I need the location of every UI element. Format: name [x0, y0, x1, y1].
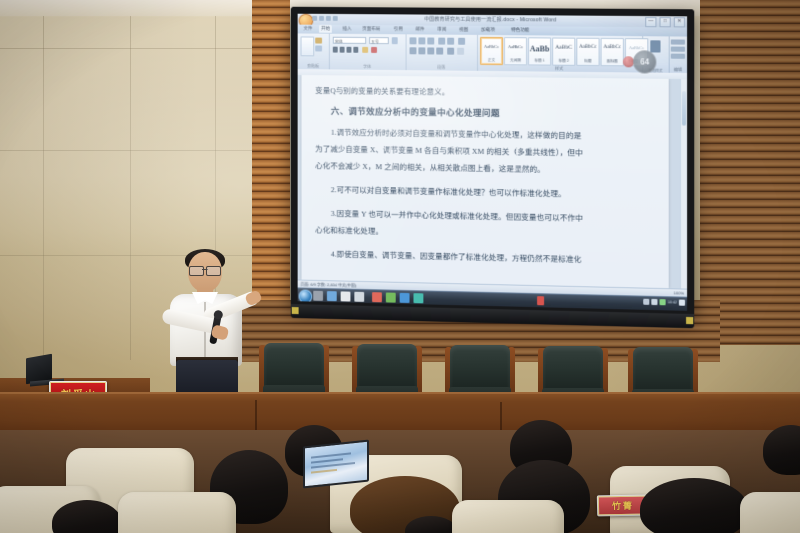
save-icon[interactable] — [312, 16, 317, 21]
seat-back — [118, 492, 236, 533]
lecture-hall-photo: 中国教育研究与工具使用一流汇报.docx - Microsoft Word — … — [0, 0, 800, 533]
show-desktop-icon[interactable] — [679, 300, 685, 306]
wood-slat-panel-right — [700, 0, 800, 345]
style-heading-1[interactable]: AaBb 标题 1 — [528, 37, 551, 65]
font-name-box[interactable]: 宋体 — [333, 37, 366, 44]
tab-features[interactable]: 特色功能 — [509, 26, 531, 34]
underline-icon[interactable] — [347, 47, 352, 53]
tab-reference[interactable]: 引用 — [392, 25, 405, 33]
taskbar-icon-media[interactable] — [354, 292, 364, 302]
align-left-icon[interactable] — [410, 47, 417, 54]
document-page[interactable]: 变量Q与别的变量的关系要有理论意义。 六、调节效应分析中的变量中心化处理问题 1… — [302, 75, 669, 288]
screen-mount-clip — [686, 317, 693, 324]
minimize-button[interactable]: — — [645, 17, 656, 27]
tab-insert[interactable]: 插入 — [341, 25, 354, 33]
change-styles-icon[interactable] — [650, 40, 660, 52]
taskbar-icon-word-active[interactable] — [537, 296, 544, 305]
line-spacing-icon[interactable] — [447, 48, 454, 55]
doc-line-1: 变量Q与别的变量的关系要有理论意义。 — [315, 85, 658, 100]
shading-icon[interactable] — [457, 48, 464, 55]
doc-heading: 六、调节效应分析中的变量中心化处理问题 — [315, 105, 658, 121]
style-heading-2[interactable]: AaBbC 标题 2 — [552, 38, 575, 66]
paste-button[interactable] — [301, 36, 315, 56]
document-canvas[interactable]: 变量Q与别的变量的关系要有理论意义。 六、调节效应分析中的变量中心化处理问题 1… — [298, 75, 687, 289]
taskbar-icon-app-blue[interactable] — [400, 293, 410, 303]
system-tray[interactable]: 10:42 — [643, 299, 685, 306]
style-preview: AaBbCc — [505, 44, 526, 49]
taskbar-clock[interactable]: 10:42 — [668, 299, 677, 305]
tab-mailings[interactable]: 邮件 — [413, 25, 426, 33]
style-label: 标题 2 — [553, 59, 574, 64]
sort-icon[interactable] — [458, 38, 465, 45]
style-no-spacing[interactable]: AaBbCc 无间隔 — [504, 37, 527, 65]
laptop-screen — [303, 440, 369, 489]
chair-back — [264, 343, 324, 389]
bold-icon[interactable] — [333, 47, 338, 53]
close-button[interactable]: ✕ — [674, 17, 685, 27]
nameplate-char: 竹 — [612, 499, 621, 512]
bullets-icon[interactable] — [410, 37, 417, 44]
align-right-icon[interactable] — [427, 47, 434, 54]
italic-icon[interactable] — [340, 47, 345, 53]
select-icon[interactable] — [671, 54, 685, 59]
taskbar-icon-explorer[interactable] — [313, 291, 323, 301]
chair-back — [357, 344, 417, 390]
align-center-icon[interactable] — [418, 47, 425, 54]
doc-line-9: 4.即使自变量、调节变量、因变量都作了标准化处理，方程仍然不是标准化 — [315, 248, 658, 266]
doc-line-8: 心化和标准化处理。 — [315, 225, 658, 243]
ribbon-group-editing: 编辑 — [669, 36, 687, 73]
seat-back — [740, 492, 800, 533]
tab-home[interactable]: 开始 — [319, 25, 332, 33]
style-label: 无间隔 — [505, 58, 526, 63]
quick-access-toolbar[interactable] — [312, 16, 337, 21]
tab-review[interactable]: 审阅 — [435, 26, 448, 34]
taskbar-icon-app-green[interactable] — [386, 292, 396, 302]
tab-addins[interactable]: 加载项 — [479, 26, 497, 34]
ribbon[interactable]: 剪贴板 宋体 五号 字体 — [298, 33, 687, 74]
doc-line-7: 3.因变量 Y 也可以一并作中心化处理或标准化处理。但因变量也可以不作中 — [315, 208, 658, 226]
vertical-scrollbar[interactable] — [680, 79, 687, 289]
style-label: 标题 1 — [529, 58, 550, 63]
zoom-level: 100% — [674, 290, 684, 295]
replace-icon[interactable] — [671, 47, 685, 52]
style-title[interactable]: AaBbCc 标题 — [576, 38, 599, 66]
taskbar-icon-folder[interactable] — [341, 291, 351, 301]
ime-badge: 64 — [633, 50, 656, 73]
maximize-button[interactable]: □ — [660, 17, 671, 27]
window-title: 中国教育研究与工具使用一流汇报.docx - Microsoft Word — [424, 16, 556, 24]
nameplate-char: 菁 — [623, 499, 632, 512]
nameplate-face: 竹 菁 — [598, 496, 646, 516]
find-icon[interactable] — [671, 39, 685, 44]
style-preview: AaBbCc — [602, 45, 623, 50]
chair-back — [543, 346, 603, 392]
style-label: 标题 — [577, 59, 598, 64]
strikethrough-icon[interactable] — [353, 47, 358, 53]
ribbon-group-styles: AaBbCc 正文 AaBbCc 无间隔 AaBb 标题 1 AaBbC — [477, 35, 643, 73]
copy-icon[interactable] — [315, 45, 322, 51]
screen-content: 中国教育研究与工具使用一流汇报.docx - Microsoft Word — … — [298, 14, 687, 311]
justify-icon[interactable] — [436, 48, 443, 55]
tray-up-arrow-icon[interactable] — [643, 299, 649, 305]
doc-line-6: 2.可不可以对自变量和调节变量作标准化处理？也可以作标准化处理。 — [315, 184, 658, 201]
doc-line-3: 1.调节效应分析时必须对自变量和调节变量作中心化处理，这样做的目的是 — [315, 127, 658, 143]
cut-icon[interactable] — [315, 38, 322, 44]
numbering-icon[interactable] — [418, 37, 425, 44]
redo-icon[interactable] — [326, 16, 331, 21]
font-size-box[interactable]: 五号 — [369, 37, 389, 44]
doc-line-4: 为了减少自变量 X、调节变量 M 各自与乘积项 XM 的相关（多重共线性），但中 — [315, 143, 658, 159]
style-preview: AaBbC — [553, 45, 574, 51]
projection-screen: 中国教育研究与工具使用一流汇报.docx - Microsoft Word — … — [291, 7, 694, 318]
scrollbar-thumb[interactable] — [682, 91, 686, 125]
ribbon-group-font: 宋体 五号 字体 — [329, 34, 407, 70]
style-preview: AaBbCc — [577, 45, 598, 50]
grow-font-icon[interactable] — [392, 37, 398, 44]
taskbar-icon-ie[interactable] — [327, 291, 337, 301]
tray-volume-icon[interactable] — [660, 299, 666, 305]
seat-back — [452, 500, 564, 533]
presenter — [150, 252, 268, 400]
undo-icon[interactable] — [319, 16, 324, 21]
tray-network-icon[interactable] — [651, 299, 657, 305]
tab-file[interactable]: 文件 — [302, 25, 315, 33]
increase-indent-icon[interactable] — [447, 38, 454, 45]
decrease-indent-icon[interactable] — [438, 38, 445, 45]
taskbar-icon-app-red[interactable] — [372, 292, 382, 302]
glasses-icon — [189, 266, 221, 274]
audience-laptop — [303, 443, 369, 485]
screen-mount-clip — [292, 307, 299, 314]
chair-back — [450, 345, 510, 391]
ribbon-group-paragraph: 段落 — [406, 34, 478, 71]
tab-layout[interactable]: 页面布局 — [360, 25, 382, 33]
style-label: 正文 — [481, 58, 502, 63]
style-normal[interactable]: AaBbCc 正文 — [480, 37, 503, 65]
style-subtitle[interactable]: AaBbCc 副标题 — [601, 38, 624, 66]
style-preview: AaBbCc — [481, 44, 502, 49]
audience-head — [640, 478, 748, 533]
highlight-icon[interactable] — [362, 47, 368, 53]
style-label: 副标题 — [602, 59, 623, 64]
window-controls[interactable]: — □ ✕ — [645, 17, 685, 27]
ribbon-group-clipboard: 剪贴板 — [298, 33, 330, 69]
style-preview: AaBb — [529, 44, 550, 53]
chevron-down-icon[interactable] — [333, 16, 338, 21]
multilevel-list-icon[interactable] — [427, 37, 434, 44]
chair-back — [633, 347, 693, 393]
taskbar-icon-app-teal[interactable] — [413, 293, 423, 303]
tab-view[interactable]: 视图 — [457, 26, 470, 34]
doc-line-5: 心化不会减少 X，M 之间的相关，从相关散点图上看，这是显然的。 — [315, 160, 658, 177]
font-color-icon[interactable] — [371, 47, 377, 53]
